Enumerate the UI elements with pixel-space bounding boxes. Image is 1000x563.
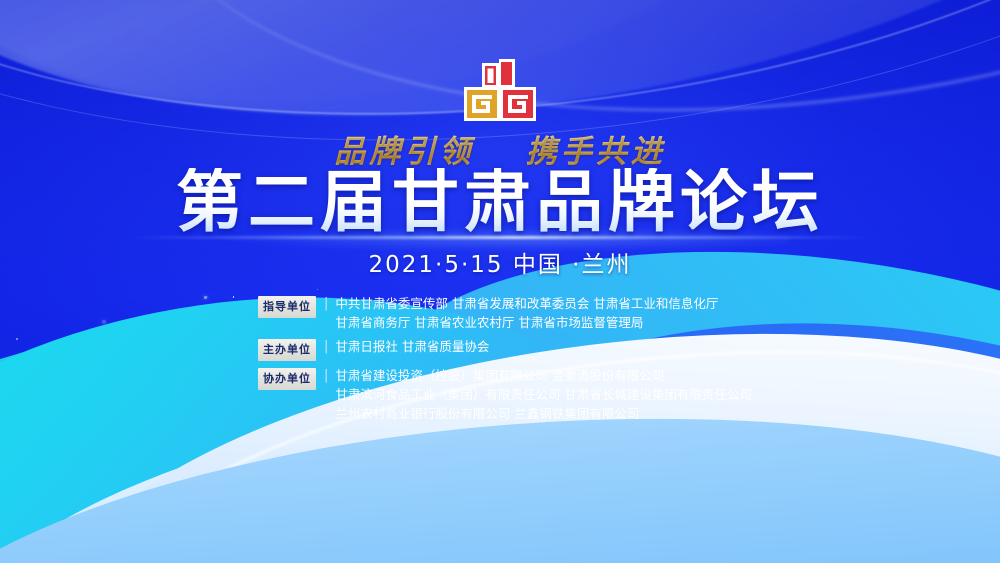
forum-logo bbox=[456, 57, 544, 123]
page-title: 第二届甘肃品牌论坛 bbox=[0, 168, 1000, 238]
credit-body: 甘肃日报社 甘肃省质量协会 bbox=[335, 337, 778, 356]
poster-canvas: 品牌引领 携手共进 第二届甘肃品牌论坛 2021·5·15 中国 ·兰州 指导单… bbox=[0, 0, 1000, 563]
credit-divider: | bbox=[324, 294, 328, 313]
credit-line: 甘肃滨河食品工业（集团）有限责任公司 甘肃省长城建设集团有限责任公司 bbox=[335, 385, 778, 404]
credit-divider: | bbox=[324, 366, 328, 385]
logo-icon bbox=[456, 57, 544, 123]
credit-line: 甘肃省商务厅 甘肃省农业农村厅 甘肃省市场监督管理局 bbox=[335, 313, 778, 332]
credit-badge: 主办单位 bbox=[258, 339, 316, 361]
event-dateline: 2021·5·15 中国 ·兰州 bbox=[0, 245, 1000, 279]
credit-body: 中共甘肃省委宣传部 甘肃省发展和改革委员会 甘肃省工业和信息化厅甘肃省商务厅 甘… bbox=[335, 294, 778, 332]
credits-block: 指导单位|中共甘肃省委宣传部 甘肃省发展和改革委员会 甘肃省工业和信息化厅甘肃省… bbox=[258, 294, 778, 428]
credit-row: 协办单位|甘肃省建设投资（控股）集团有限公司 金徽酒股份有限公司甘肃滨河食品工业… bbox=[258, 366, 778, 423]
credit-line: 中共甘肃省委宣传部 甘肃省发展和改革委员会 甘肃省工业和信息化厅 bbox=[335, 294, 778, 313]
credit-row: 指导单位|中共甘肃省委宣传部 甘肃省发展和改革委员会 甘肃省工业和信息化厅甘肃省… bbox=[258, 294, 778, 332]
credit-row: 主办单位|甘肃日报社 甘肃省质量协会 bbox=[258, 337, 778, 361]
poster-content: 品牌引领 携手共进 第二届甘肃品牌论坛 2021·5·15 中国 ·兰州 指导单… bbox=[0, 0, 1000, 563]
credit-line: 兰州农村商业银行股份有限公司 兰鑫钢铁集团有限公司 bbox=[335, 404, 778, 423]
credit-badge: 指导单位 bbox=[258, 296, 316, 318]
credit-badge: 协办单位 bbox=[258, 368, 316, 390]
credit-divider: | bbox=[324, 337, 328, 356]
credit-body: 甘肃省建设投资（控股）集团有限公司 金徽酒股份有限公司甘肃滨河食品工业（集团）有… bbox=[335, 366, 778, 423]
credit-line: 甘肃省建设投资（控股）集团有限公司 金徽酒股份有限公司 bbox=[335, 366, 778, 385]
credit-line: 甘肃日报社 甘肃省质量协会 bbox=[335, 337, 778, 356]
